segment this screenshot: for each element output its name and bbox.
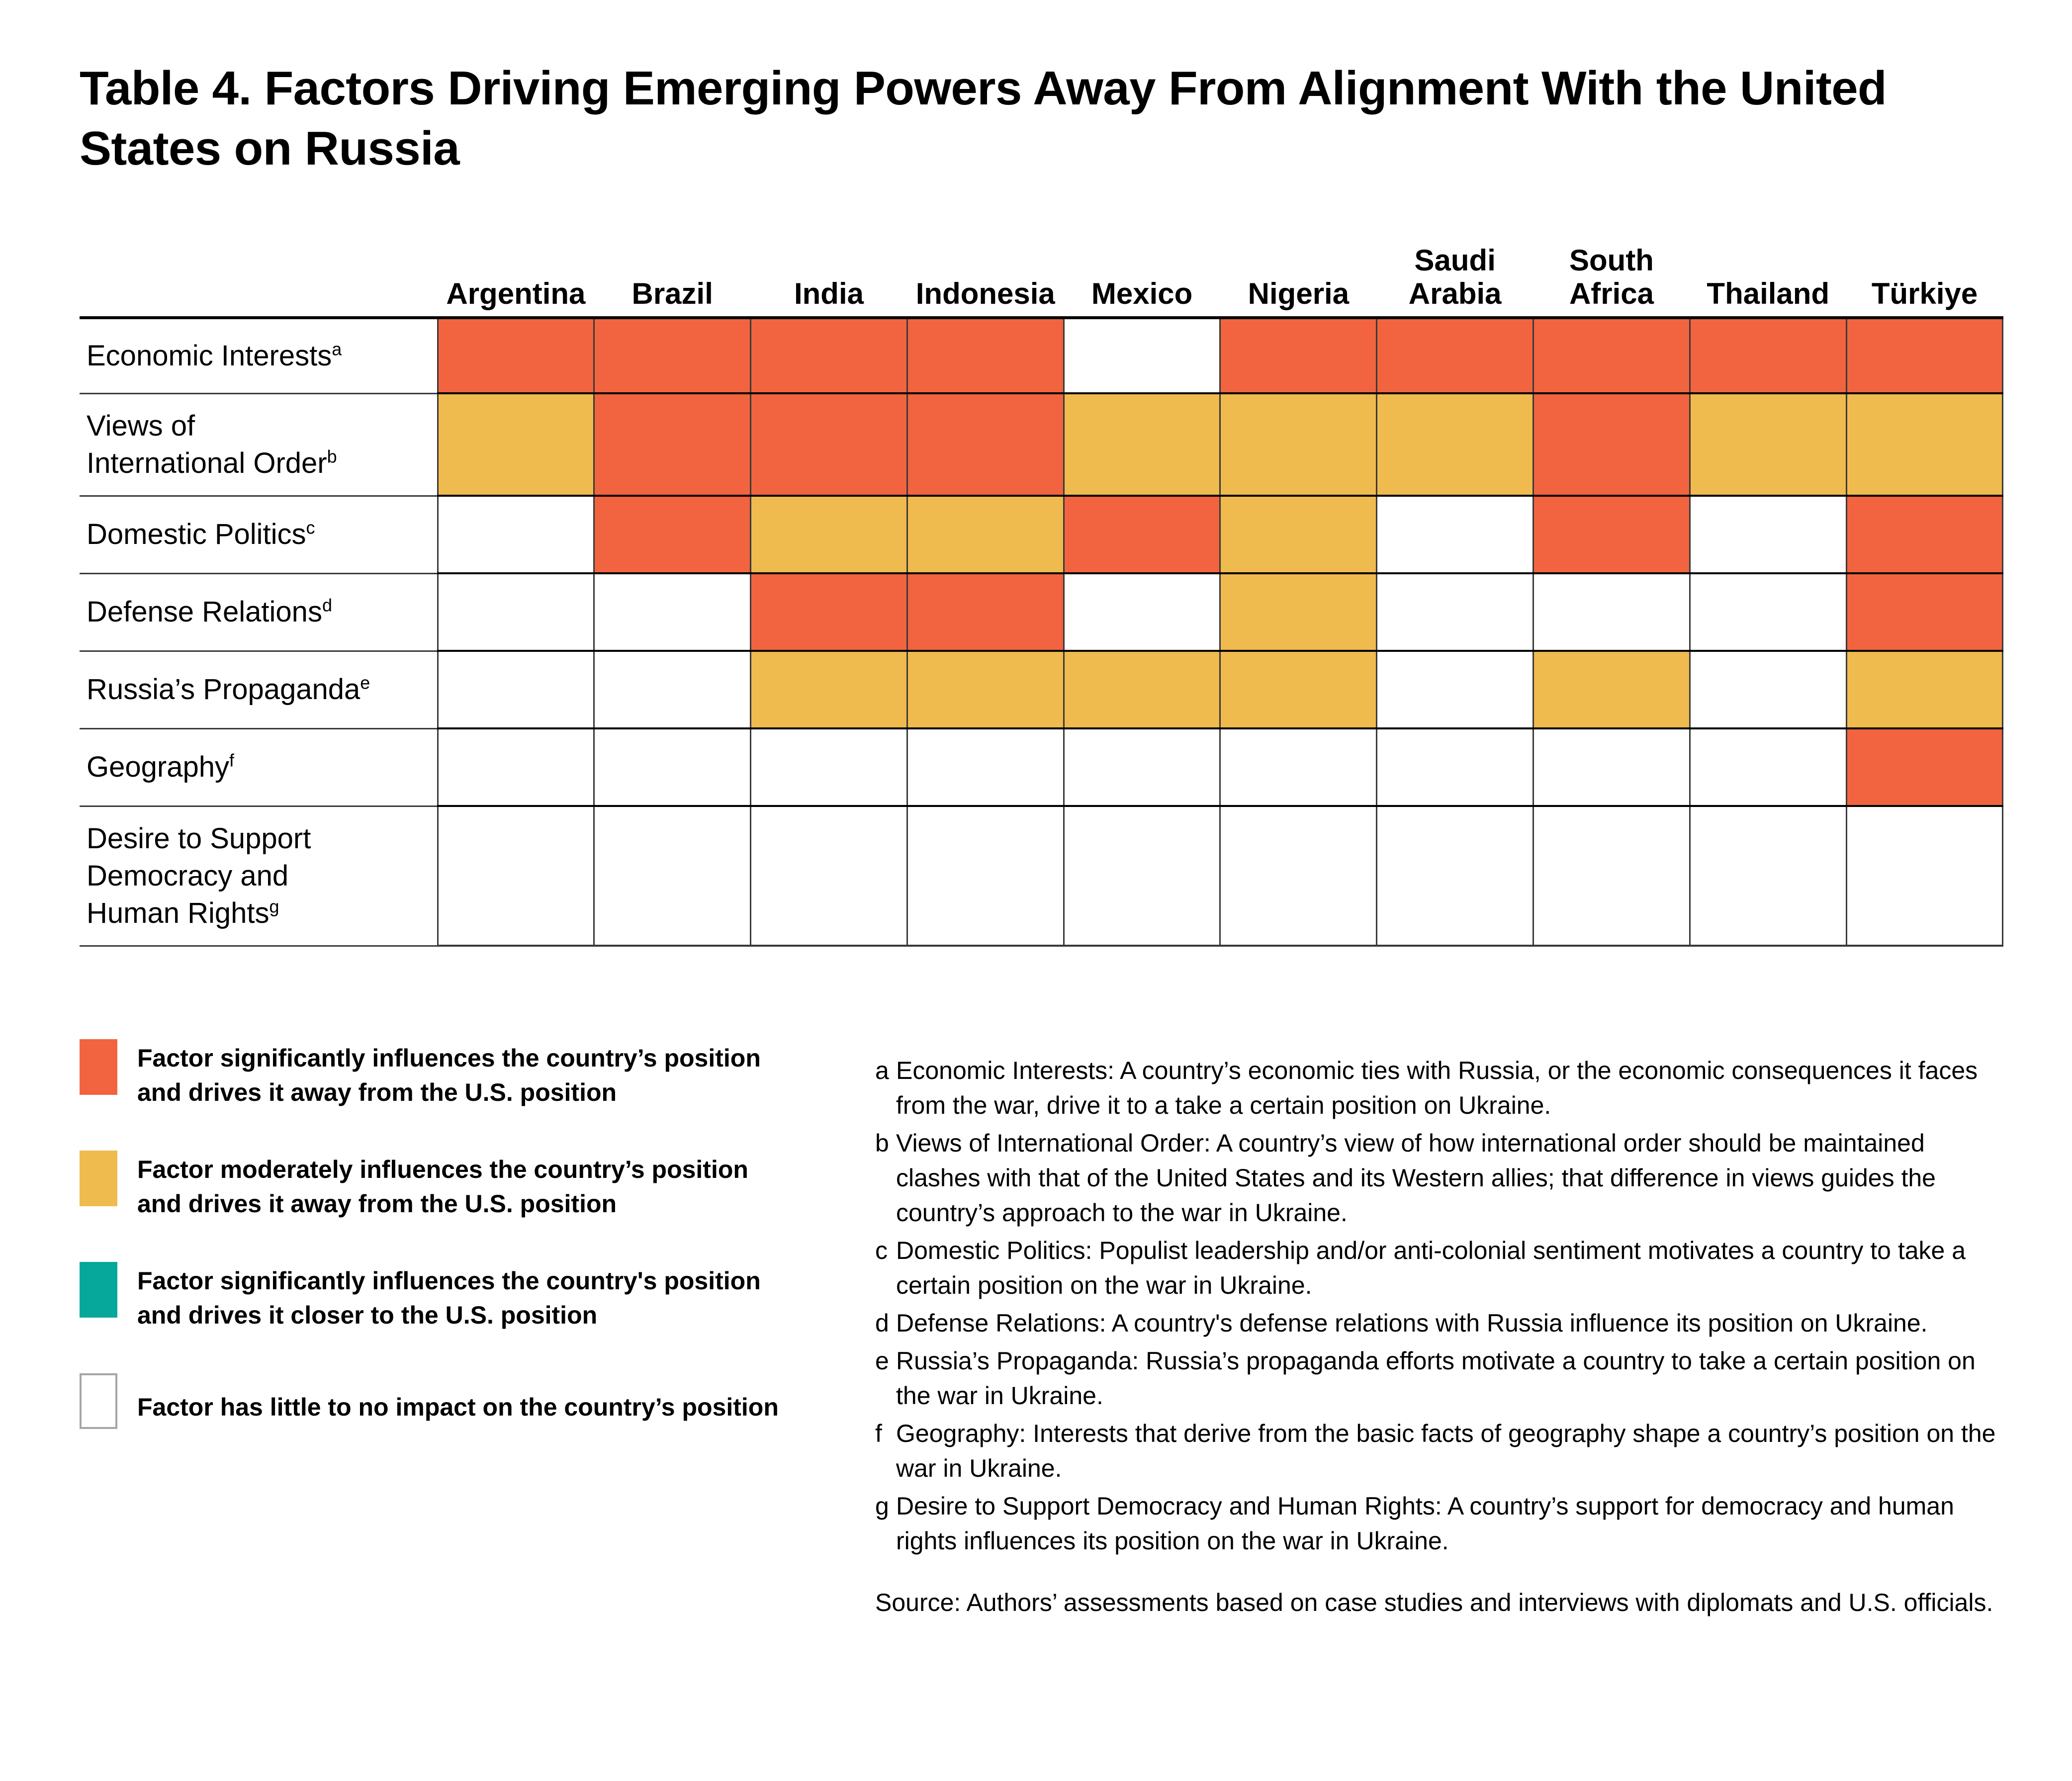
legend-label: Factor significantly influences the coun… [137, 1039, 761, 1110]
footnote-list: aEconomic Interests: A country’s economi… [875, 1053, 2014, 1558]
footnote-item-marker: a [875, 1053, 896, 1088]
matrix-cell [594, 573, 751, 651]
footnote-item: bViews of International Order: A country… [875, 1126, 2014, 1230]
matrix-cell [594, 806, 751, 946]
matrix-cell [1533, 728, 1690, 806]
matrix-cell [1846, 318, 2003, 393]
footnote-item-text: Defense Relations: A country's defense r… [896, 1306, 2014, 1340]
footnote-item: gDesire to Support Democracy and Human R… [875, 1489, 2014, 1558]
matrix-cell [438, 651, 594, 728]
matrix-cell [594, 318, 751, 393]
matrix-cell [907, 806, 1064, 946]
legend-swatch-closer [80, 1262, 117, 1318]
matrix-cell [1064, 496, 1220, 573]
footnote-item-text: Views of International Order: A country’… [896, 1126, 2014, 1230]
row-label-text: Geography [87, 751, 229, 783]
footnote-item-marker: b [875, 1126, 896, 1160]
footnote-item: aEconomic Interests: A country’s economi… [875, 1053, 2014, 1123]
row-label-text: Domestic Politics [87, 518, 306, 550]
matrix-cell [1533, 393, 1690, 496]
matrix-cell [1377, 496, 1533, 573]
matrix-cell [1690, 806, 1846, 946]
matrix-cell [907, 728, 1064, 806]
matrix-cell [1377, 573, 1533, 651]
row-label-factor: Russia’s Propagandae [80, 651, 438, 728]
footnote-marker: g [269, 896, 279, 917]
matrix-cell [1690, 728, 1846, 806]
footnote-marker: f [229, 750, 234, 771]
table-row: Desire to Support Democracy and Human Ri… [80, 806, 2003, 946]
matrix-cell [751, 728, 907, 806]
matrix-cell [1690, 393, 1846, 496]
column-header-country: Brazil [594, 244, 751, 318]
footnote-item: fGeography: Interests that derive from t… [875, 1416, 2014, 1486]
matrix-cell [1533, 496, 1690, 573]
row-label-factor: Desire to Support Democracy and Human Ri… [80, 806, 438, 946]
column-header-country: Türkiye [1846, 244, 2003, 318]
matrix-cell [1846, 496, 2003, 573]
column-header-country: Argentina [438, 244, 594, 318]
legend: Factor significantly influences the coun… [80, 1039, 870, 1429]
corner-cell [80, 244, 438, 318]
table-head: ArgentinaBrazilIndiaIndonesiaMexicoNiger… [80, 244, 2003, 318]
matrix-cell [1846, 728, 2003, 806]
footnote-item-marker: d [875, 1306, 896, 1340]
column-header-country: South Africa [1533, 244, 1690, 318]
matrix-cell [1377, 728, 1533, 806]
matrix-cell [1220, 806, 1377, 946]
column-header-country: Mexico [1064, 244, 1220, 318]
matrix-cell [1846, 806, 2003, 946]
column-header-country: Thailand [1690, 244, 1846, 318]
row-label-factor: Views of International Orderb [80, 393, 438, 496]
legend-row: Factor significantly influences the coun… [80, 1262, 870, 1333]
table-row: Defense Relationsd [80, 573, 2003, 651]
footnote-item-text: Geography: Interests that derive from th… [896, 1416, 2014, 1486]
legend-row: Factor moderately influences the country… [80, 1151, 870, 1221]
column-header-country: Nigeria [1220, 244, 1377, 318]
page-title: Table 4. Factors Driving Emerging Powers… [80, 59, 1949, 179]
table-body: Economic InterestsaViews of Internationa… [80, 318, 2003, 946]
matrix-cell [1690, 318, 1846, 393]
row-label-factor: Defense Relationsd [80, 573, 438, 651]
matrix-cell [751, 651, 907, 728]
table-row: Geographyf [80, 728, 2003, 806]
matrix-cell [1533, 651, 1690, 728]
matrix-cell [1064, 728, 1220, 806]
footnote-marker: a [332, 339, 342, 359]
row-label-factor: Geographyf [80, 728, 438, 806]
footnote-item-text: Desire to Support Democracy and Human Ri… [896, 1489, 2014, 1558]
footnote-item-marker: e [875, 1343, 896, 1378]
factors-matrix: ArgentinaBrazilIndiaIndonesiaMexicoNiger… [80, 244, 2003, 947]
matrix-cell [1690, 651, 1846, 728]
matrix-cell [1377, 318, 1533, 393]
footnote-marker: c [306, 518, 315, 538]
matrix-cell [1846, 393, 2003, 496]
matrix-cell [751, 496, 907, 573]
matrix-cell [1220, 496, 1377, 573]
table-row: Views of International Orderb [80, 393, 2003, 496]
matrix-cell [594, 393, 751, 496]
matrix-cell [1377, 651, 1533, 728]
row-label-text: Economic Interests [87, 340, 332, 372]
matrix-cell [1690, 496, 1846, 573]
legend-swatch-high [80, 1039, 117, 1095]
footnote-item-marker: f [875, 1416, 896, 1451]
matrix-cell [1533, 806, 1690, 946]
footnote-item: dDefense Relations: A country's defense … [875, 1306, 2014, 1340]
table-row: Economic Interestsa [80, 318, 2003, 393]
matrix-cell [751, 806, 907, 946]
row-label-text: Views of International Order [87, 410, 327, 479]
table-row: Russia’s Propagandae [80, 651, 2003, 728]
matrix-cell [1064, 318, 1220, 393]
matrix-cell [907, 393, 1064, 496]
matrix-cell [907, 496, 1064, 573]
footnote-item-marker: c [875, 1233, 896, 1268]
row-label-factor: Economic Interestsa [80, 318, 438, 393]
legend-label: Factor has little to no impact on the co… [137, 1373, 779, 1425]
matrix-cell [1220, 651, 1377, 728]
matrix-cell [594, 728, 751, 806]
legend-label: Factor moderately influences the country… [137, 1151, 748, 1221]
matrix-cell [1220, 728, 1377, 806]
matrix-cell [1846, 651, 2003, 728]
footnotes: aEconomic Interests: A country’s economi… [875, 1053, 2014, 1620]
footnote-marker: e [360, 673, 370, 693]
matrix-cell [594, 651, 751, 728]
matrix-cell [1377, 806, 1533, 946]
column-header-country: Saudi Arabia [1377, 244, 1533, 318]
footnote-marker: d [322, 595, 332, 616]
footnote-item-text: Domestic Politics: Populist leadership a… [896, 1233, 2014, 1303]
matrix-cell [1220, 318, 1377, 393]
factors-table: ArgentinaBrazilIndiaIndonesiaMexicoNiger… [80, 244, 2003, 947]
matrix-cell [751, 318, 907, 393]
matrix-cell [907, 651, 1064, 728]
matrix-cell [1064, 651, 1220, 728]
title-block: Table 4. Factors Driving Emerging Powers… [80, 59, 1969, 179]
matrix-cell [1846, 573, 2003, 651]
matrix-cell [1064, 806, 1220, 946]
matrix-cell [438, 318, 594, 393]
matrix-cell [1220, 393, 1377, 496]
header-row: ArgentinaBrazilIndiaIndonesiaMexicoNiger… [80, 244, 2003, 318]
legend-row: Factor significantly influences the coun… [80, 1039, 870, 1110]
matrix-cell [1690, 573, 1846, 651]
legend-row: Factor has little to no impact on the co… [80, 1373, 870, 1429]
footnote-item: eRussia’s Propaganda: Russia’s propagand… [875, 1343, 2014, 1413]
legend-swatch-moderate [80, 1151, 117, 1206]
matrix-cell [907, 573, 1064, 651]
matrix-cell [751, 573, 907, 651]
column-header-country: India [751, 244, 907, 318]
matrix-cell [594, 496, 751, 573]
column-header-country: Indonesia [907, 244, 1064, 318]
legend-label: Factor significantly influences the coun… [137, 1262, 761, 1333]
row-label-text: Defense Relations [87, 596, 322, 628]
matrix-cell [1377, 393, 1533, 496]
matrix-cell [907, 318, 1064, 393]
legend-swatch-none [80, 1373, 117, 1429]
footnote-item-text: Economic Interests: A country’s economic… [896, 1053, 2014, 1123]
matrix-cell [751, 393, 907, 496]
matrix-cell [438, 728, 594, 806]
footnote-item: cDomestic Politics: Populist leadership … [875, 1233, 2014, 1303]
matrix-cell [438, 496, 594, 573]
source-note: Source: Authors’ assessments based on ca… [875, 1585, 2014, 1620]
row-label-factor: Domestic Politicsc [80, 496, 438, 573]
matrix-cell [1533, 573, 1690, 651]
footnote-item-text: Russia’s Propaganda: Russia’s propaganda… [896, 1343, 2014, 1413]
matrix-cell [438, 573, 594, 651]
matrix-cell [1533, 318, 1690, 393]
footnote-item-marker: g [875, 1489, 896, 1523]
row-label-text: Russia’s Propaganda [87, 673, 360, 706]
matrix-cell [1220, 573, 1377, 651]
matrix-cell [1064, 393, 1220, 496]
footnote-marker: b [327, 446, 337, 467]
matrix-cell [438, 393, 594, 496]
matrix-cell [1064, 573, 1220, 651]
table-row: Domestic Politicsc [80, 496, 2003, 573]
matrix-cell [438, 806, 594, 946]
